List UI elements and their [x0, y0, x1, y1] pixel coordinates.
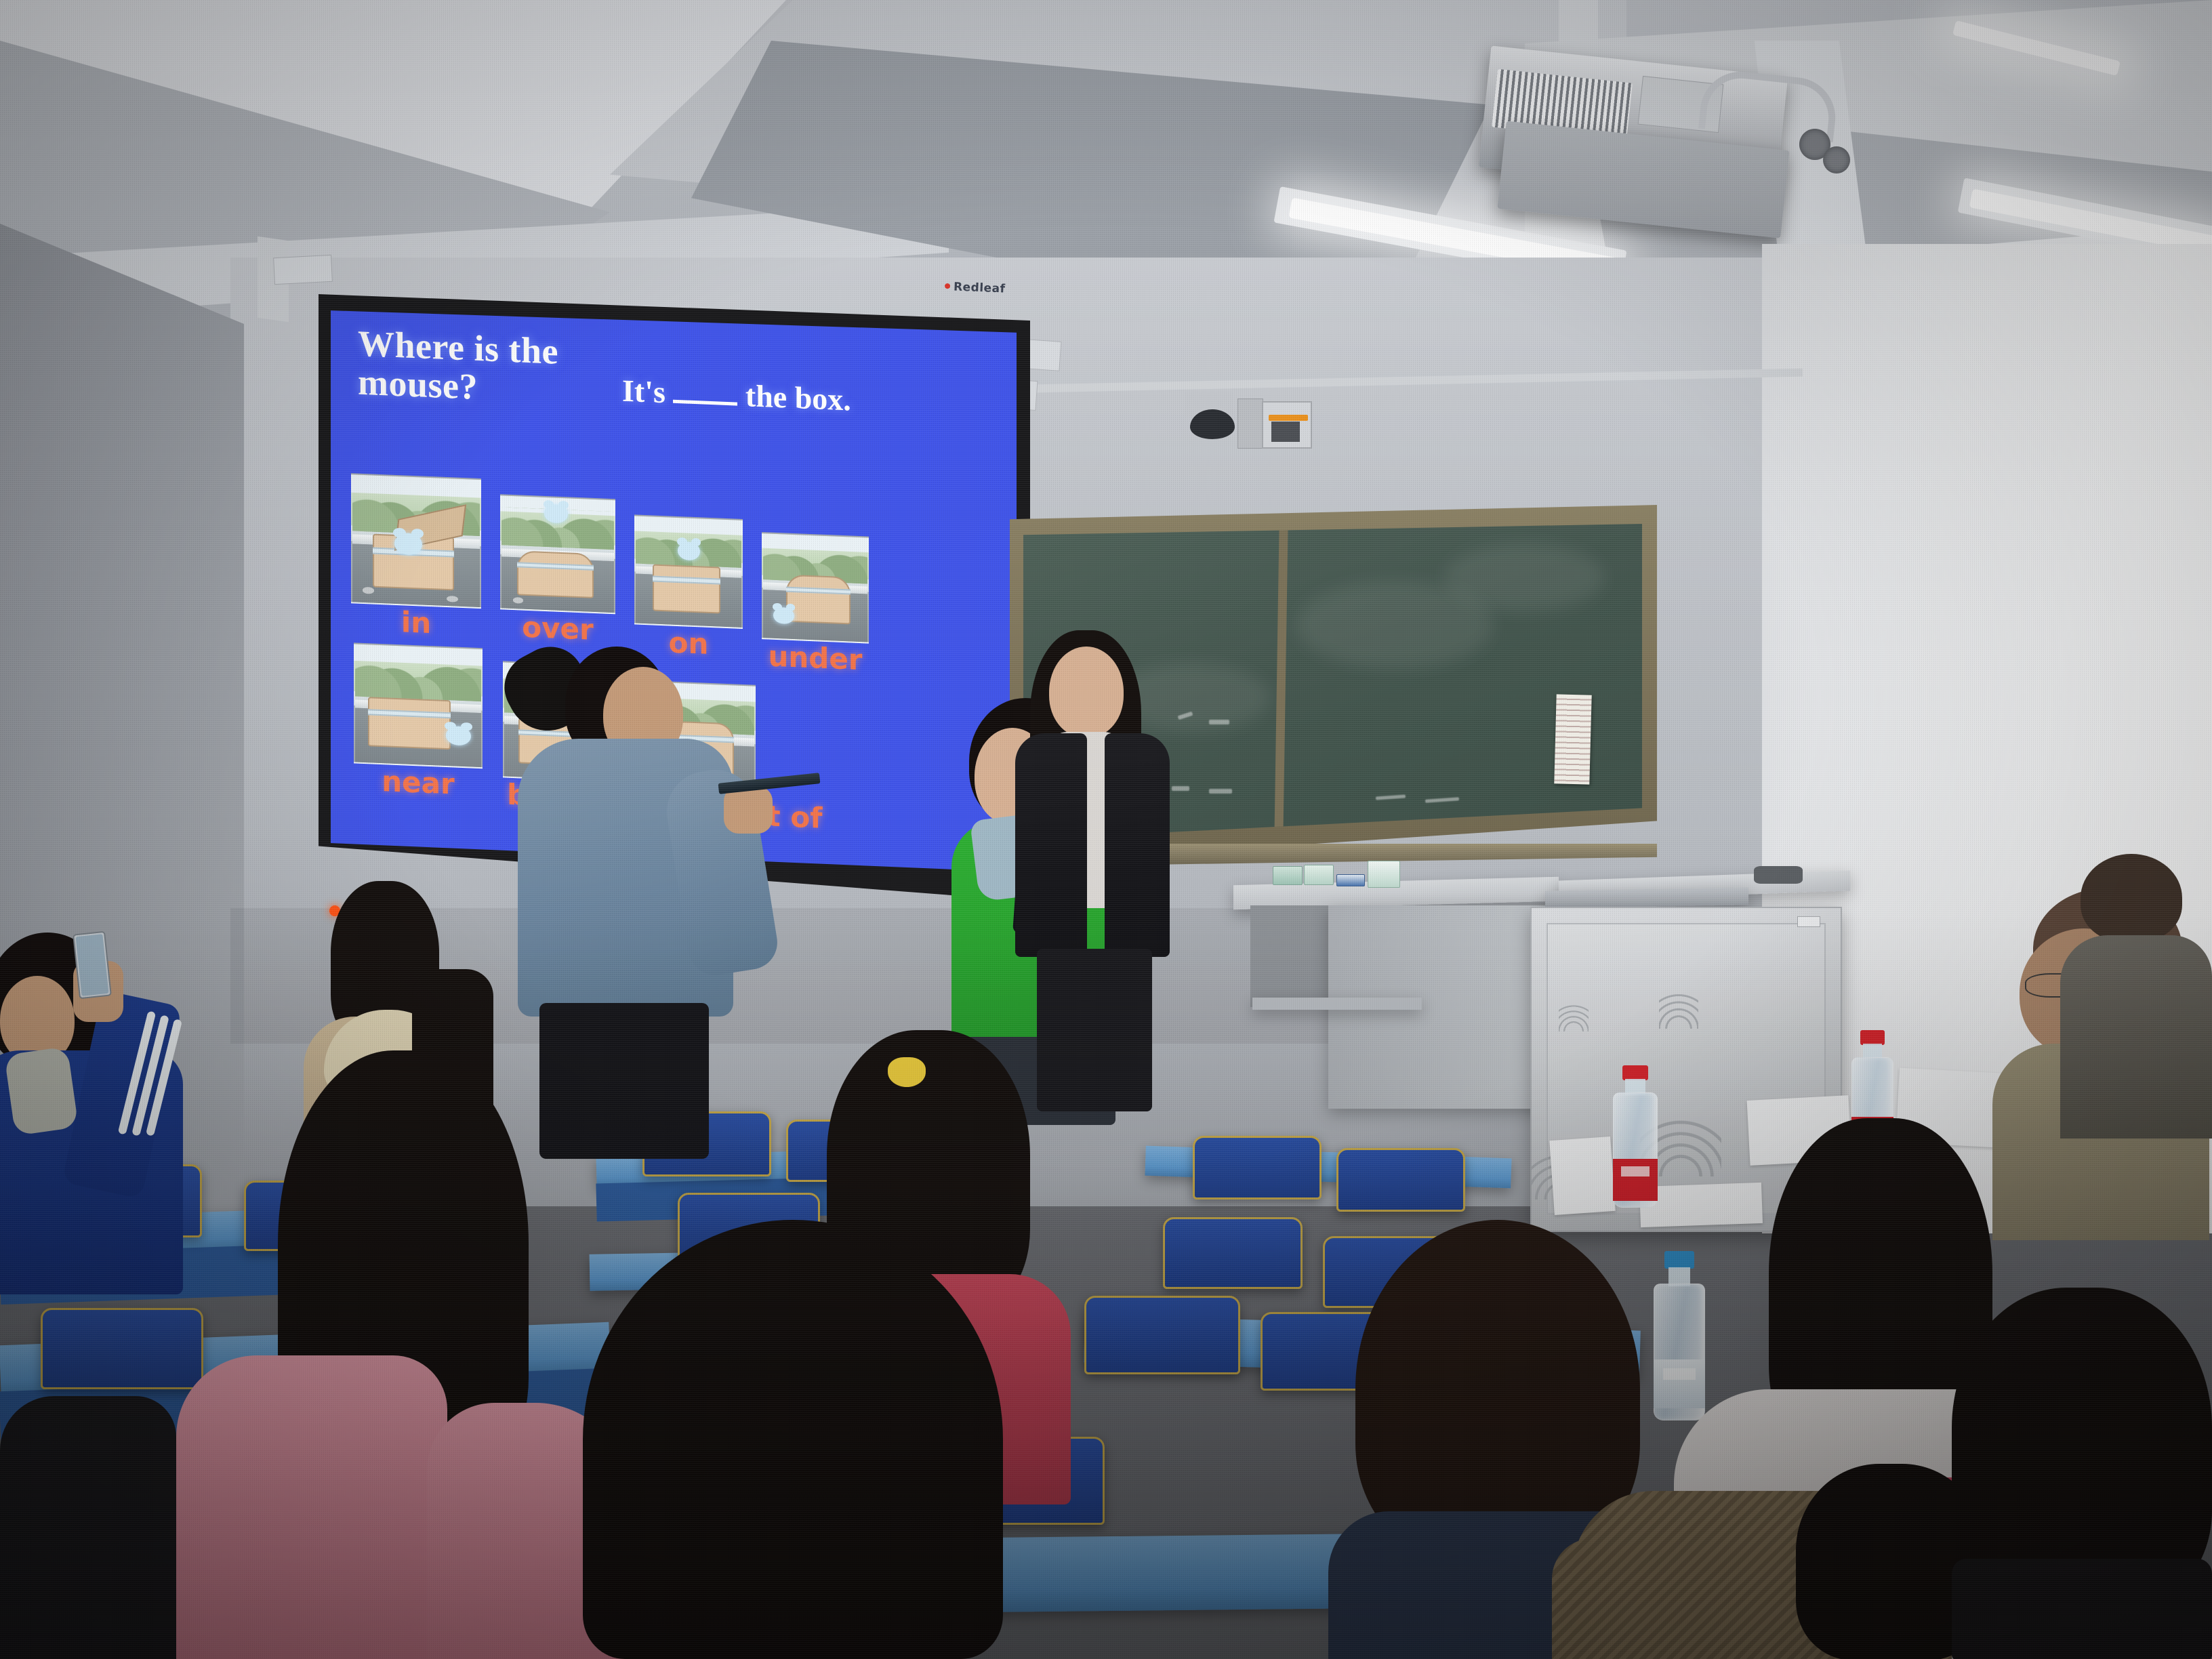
- hair: [583, 1220, 1003, 1659]
- mouse-art: [394, 533, 422, 556]
- chest-art: [517, 550, 594, 598]
- slide-cell-in[interactable]: in: [351, 473, 481, 628]
- chalk-smudge: [1444, 543, 1605, 613]
- projector-lens-secondary: [1823, 146, 1850, 173]
- pebble: [513, 597, 523, 603]
- slide-sentence: It's the box.: [622, 373, 851, 418]
- person-left-edge-foreground: [0, 1396, 176, 1659]
- chest-art: [368, 697, 451, 750]
- slide-label-in: in: [351, 603, 481, 642]
- slide-picture-row-1: in ove: [351, 473, 869, 643]
- chalk-box-3[interactable]: [1336, 874, 1365, 886]
- chest-band: [517, 562, 594, 571]
- blackboard-eraser[interactable]: [1754, 866, 1803, 884]
- torso-dark: [1952, 1559, 2212, 1659]
- collar: [4, 1046, 79, 1136]
- head: [1049, 647, 1124, 737]
- chalk-mark: [1209, 789, 1232, 794]
- cabinet-decal-small: [1559, 1002, 1589, 1031]
- person-student-knit-sweater: [1572, 1464, 1952, 1659]
- paper-sheet-1[interactable]: [1549, 1136, 1615, 1215]
- cabinet-lock[interactable]: [1797, 916, 1820, 927]
- slide-label-near: near: [354, 763, 483, 802]
- chalk-mark: [1209, 720, 1229, 724]
- pebble: [363, 587, 374, 594]
- classroom-photo: Redleaf Where is the mouse? It's the box…: [0, 0, 2212, 1659]
- chalk-box-1[interactable]: [1273, 866, 1303, 885]
- torso-pink-jacket: [176, 1355, 447, 1659]
- electrical-panel-switch[interactable]: [1269, 415, 1308, 421]
- bottle-cap: [1860, 1030, 1885, 1045]
- slide-image-in: [351, 473, 481, 609]
- counter-shelf: [1252, 998, 1422, 1010]
- chest-band: [368, 709, 451, 718]
- slide-cell-over[interactable]: over: [500, 494, 615, 633]
- security-camera[interactable]: [1190, 409, 1235, 439]
- slide-image-over: [500, 494, 615, 614]
- chair-row3-1[interactable]: [41, 1308, 203, 1389]
- chalk-box-2[interactable]: [1304, 865, 1334, 885]
- slide-cell-under[interactable]: under: [762, 532, 869, 643]
- whiteboard-brand-label: Redleaf: [954, 280, 1006, 295]
- chalkboard-notice-paper[interactable]: [1554, 694, 1591, 784]
- hills-art: [355, 656, 481, 701]
- chair-back-3[interactable]: [1193, 1136, 1322, 1200]
- sentence-suffix: the box.: [745, 378, 851, 417]
- cabinet-rail: [1545, 887, 1748, 908]
- chalk-mark: [1376, 794, 1406, 800]
- hand-right: [724, 786, 773, 834]
- sentence-blank: [673, 400, 737, 406]
- hair: [2081, 854, 2182, 942]
- mobile-phone[interactable]: [73, 931, 112, 999]
- slide-image-near: [354, 642, 483, 769]
- torso-black-blazer: [1015, 733, 1087, 957]
- bottle-label: [1613, 1159, 1658, 1201]
- torso-grey-coat: [2060, 935, 2212, 1139]
- slide-image-under: [762, 532, 869, 643]
- camera-housing: [1237, 398, 1263, 449]
- mouse-art: [544, 504, 568, 523]
- slide-title: Where is the mouse?: [358, 325, 581, 411]
- mouse-art: [446, 726, 471, 745]
- chest-art: [786, 574, 851, 625]
- mouse-art: [678, 541, 700, 560]
- slide-cell-near[interactable]: near: [354, 642, 483, 787]
- chair-row3-2[interactable]: [1084, 1296, 1240, 1374]
- slide-image-on: [634, 514, 743, 629]
- chest-band: [786, 586, 851, 595]
- chair-row2-4[interactable]: [1163, 1217, 1303, 1289]
- hair-tie: [888, 1057, 926, 1087]
- bottle-cap: [1622, 1065, 1648, 1080]
- chest-art: [653, 564, 720, 614]
- person-student-far-right-foreground: [1952, 1288, 2212, 1659]
- electrical-panel-window: [1271, 422, 1300, 442]
- chalk-mark: [1172, 786, 1189, 791]
- chalkboard-panel-divider: [1275, 530, 1288, 833]
- chalk-mark: [1425, 798, 1459, 803]
- torso-dark: [0, 1396, 176, 1659]
- person-student-center-foreground: [542, 1220, 1071, 1659]
- slide-cell-on[interactable]: on: [634, 514, 743, 638]
- chalk-box-4[interactable]: [1368, 861, 1400, 888]
- board-mount-bracket-left: [273, 255, 333, 285]
- blazer-right-panel: [1105, 733, 1170, 957]
- cabinet-decal-medium: [1659, 989, 1698, 1029]
- chair-back-4[interactable]: [1336, 1148, 1465, 1212]
- person-observer-grey-coat: [2060, 854, 2212, 1139]
- phone-screen: [76, 934, 109, 996]
- water-bottle-left[interactable]: [1613, 1065, 1658, 1208]
- sentence-prefix: It's: [622, 373, 665, 410]
- chest-band: [653, 576, 720, 585]
